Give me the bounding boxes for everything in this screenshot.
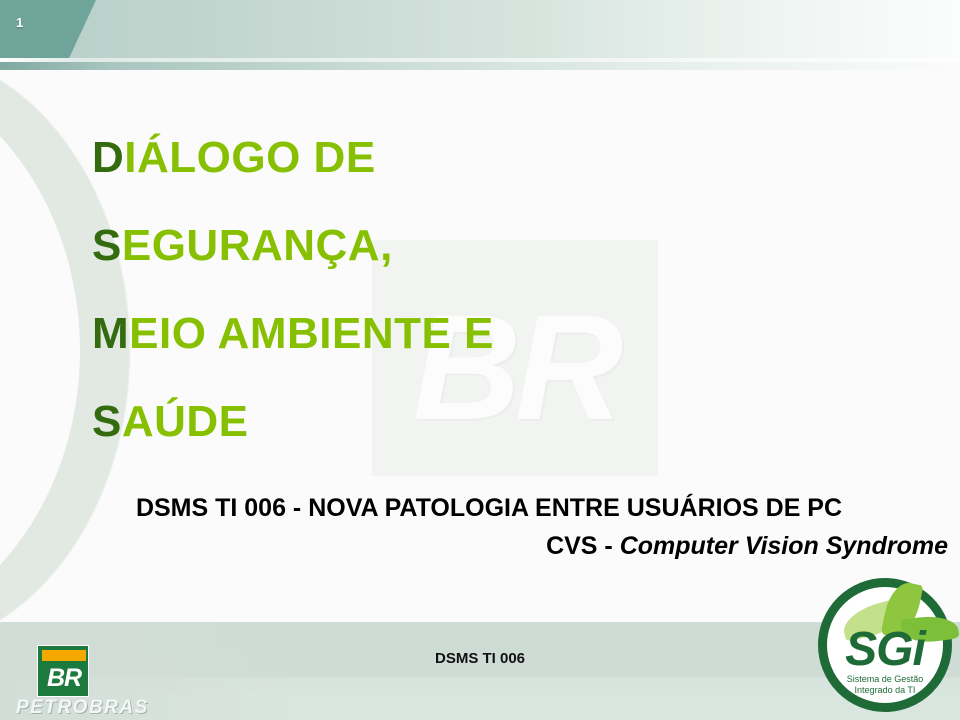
slide-header-bar: 1 xyxy=(0,0,960,58)
title-line-2-initial: S xyxy=(92,221,122,270)
petrobras-br-logo-icon: BR xyxy=(37,645,89,697)
sgi-logo-icon: SGi Sistema de Gestão Integrado da TI xyxy=(818,578,952,712)
sgi-mark-text: SGi xyxy=(818,626,952,674)
sgi-caption: Sistema de Gestão Integrado da TI xyxy=(818,674,952,696)
title-line-4: SAÚDE xyxy=(92,378,712,466)
title-line-2-rest: EGURANÇA, xyxy=(122,221,393,270)
footer-document-code: DSMS TI 006 xyxy=(0,650,960,667)
subtitle-line-2-prefix: CVS - xyxy=(546,532,620,560)
title-line-4-initial: S xyxy=(92,397,122,446)
sgi-caption-line-1: Sistema de Gestão xyxy=(818,674,952,685)
slide-subtitle: DSMS TI 006 - NOVA PATOLOGIA ENTRE USUÁR… xyxy=(30,492,948,563)
subtitle-line-1: DSMS TI 006 - NOVA PATOLOGIA ENTRE USUÁR… xyxy=(30,492,948,524)
presentation-slide: BR 1 DIÁLOGO DE SEGURANÇA, MEIO AMBIENTE… xyxy=(0,0,960,720)
petrobras-wordmark: PETROBRAS xyxy=(16,697,149,719)
petrobras-br-mark: BR xyxy=(38,662,90,694)
title-line-1: DIÁLOGO DE xyxy=(92,114,712,202)
title-line-2: SEGURANÇA, xyxy=(92,202,712,290)
petrobras-yellow-bar xyxy=(42,650,86,661)
title-line-3-rest: EIO AMBIENTE E xyxy=(129,309,494,358)
title-line-1-initial: D xyxy=(92,133,124,182)
subtitle-line-2: CVS - Computer Vision Syndrome xyxy=(30,524,948,563)
title-line-3-initial: M xyxy=(92,309,129,358)
title-line-4-rest: AÚDE xyxy=(122,397,249,446)
title-line-3: MEIO AMBIENTE E xyxy=(92,290,712,378)
subtitle-line-2-italic: Computer Vision Syndrome xyxy=(620,532,948,560)
title-line-1-rest: IÁLOGO DE xyxy=(124,133,375,182)
header-secondary-band xyxy=(0,62,960,70)
slide-title: DIÁLOGO DE SEGURANÇA, MEIO AMBIENTE E SA… xyxy=(92,114,712,466)
slide-number-tab xyxy=(0,0,96,58)
slide-number-label: 1 xyxy=(16,16,23,29)
sgi-caption-line-2: Integrado da TI xyxy=(818,685,952,696)
